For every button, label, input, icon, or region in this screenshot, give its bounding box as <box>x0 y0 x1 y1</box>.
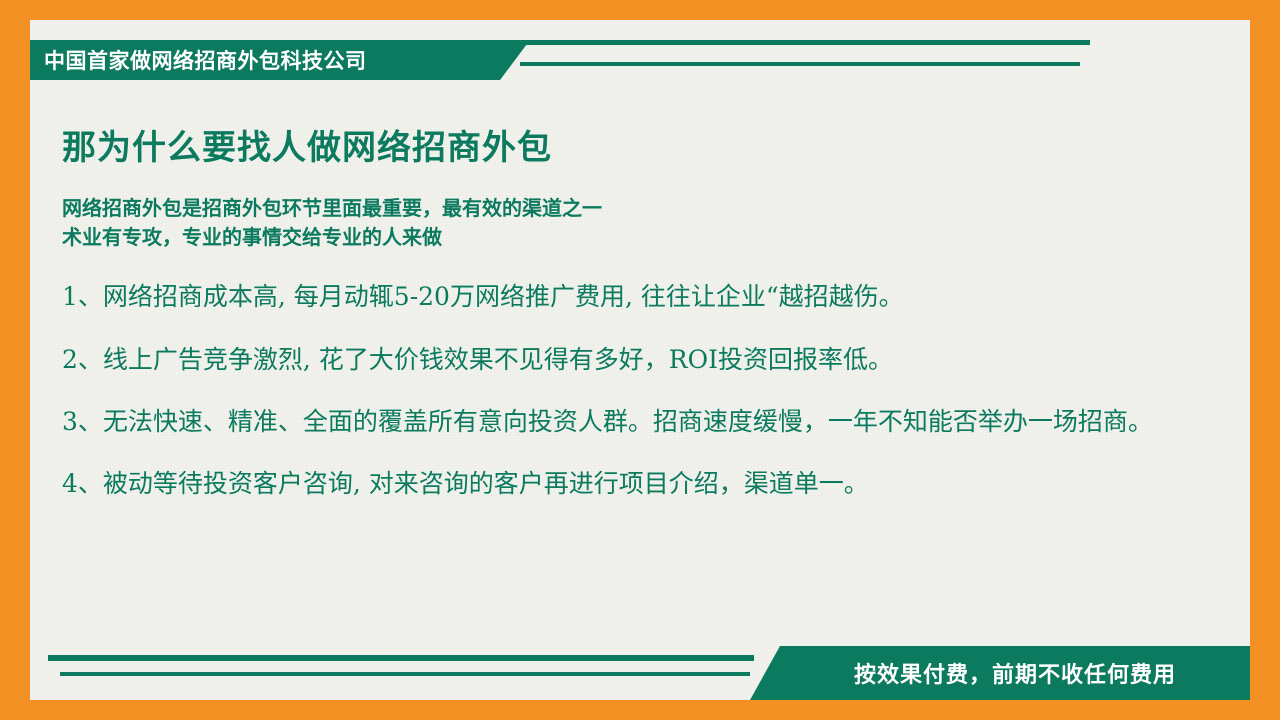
page-title: 那为什么要找人做网络招商外包 <box>62 130 1202 167</box>
list-item: 3、无法快速、精准、全面的覆盖所有意向投资人群。招商速度缓慢，一年不知能否举办一… <box>62 404 1182 440</box>
slide-content: 那为什么要找人做网络招商外包 网络招商外包是招商外包环节里面最重要，最有效的渠道… <box>62 130 1202 528</box>
bottom-accent-line-1 <box>48 655 754 661</box>
bottom-banner: 按效果付费，前期不收任何费用 <box>780 646 1250 700</box>
bottom-accent-line-2 <box>60 672 750 676</box>
subtitle-line-1: 网络招商外包是招商外包环节里面最重要，最有效的渠道之一 <box>62 195 1202 224</box>
top-banner-accent-line-1 <box>500 40 1090 45</box>
top-banner-label: 中国首家做网络招商外包科技公司 <box>44 45 367 75</box>
top-banner-tail-shape <box>500 40 530 80</box>
top-banner-accent-line-2 <box>520 62 1080 66</box>
bottom-banner-label: 按效果付费，前期不收任何费用 <box>854 657 1176 689</box>
top-banner: 中国首家做网络招商外包科技公司 <box>30 40 500 80</box>
subtitle-line-2: 术业有专攻，专业的事情交给专业的人来做 <box>62 224 1202 253</box>
subtitle-block: 网络招商外包是招商外包环节里面最重要，最有效的渠道之一 术业有专攻，专业的事情交… <box>62 195 1202 253</box>
slide-root: 中国首家做网络招商外包科技公司 那为什么要找人做网络招商外包 网络招商外包是招商… <box>0 0 1280 720</box>
list-item: 1、网络招商成本高, 每月动辄5-20万网络推广费用, 往往让企业“越招越伤。 <box>62 279 1182 315</box>
bottom-bar-tail-shape <box>750 646 780 700</box>
list-item: 2、线上广告竞争激烈, 花了大价钱效果不见得有多好，ROI投资回报率低。 <box>62 342 1182 378</box>
bullet-list: 1、网络招商成本高, 每月动辄5-20万网络推广费用, 往往让企业“越招越伤。 … <box>62 279 1202 502</box>
list-item: 4、被动等待投资客户咨询, 对来咨询的客户再进行项目介绍，渠道单一。 <box>62 466 1182 502</box>
